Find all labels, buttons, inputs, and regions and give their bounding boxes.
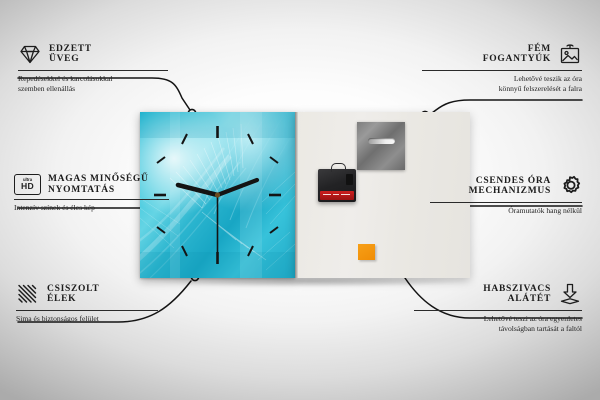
- feature-divider: [430, 202, 582, 203]
- feature-title-line2: FOGANTYÚK: [483, 54, 551, 64]
- feature-silent-mechanism: CSENDES ÓRA MECHANIZMUS Óramutatók hang …: [430, 174, 582, 216]
- feature-metal-handles: FÉM FOGANTYÚK Lehetővé teszik az óra kön…: [422, 42, 582, 94]
- feature-title-line2: NYOMTATÁS: [48, 185, 149, 195]
- feature-title-line2: ÜVEG: [49, 54, 92, 64]
- feature-desc-line1: Sima és biztonságos felület: [16, 314, 158, 324]
- feature-divider: [18, 70, 168, 71]
- mechanism-label: [320, 191, 354, 200]
- feature-divider: [14, 199, 169, 200]
- feature-divider: [422, 70, 582, 71]
- clock-mechanism: [318, 169, 356, 202]
- mechanism-hook: [331, 163, 346, 172]
- feature-desc-line1: Repedésekkel és karcolásokkal: [18, 74, 168, 84]
- feature-title-line1: FÉM: [483, 44, 551, 54]
- feature-title-line1: MAGAS MINŐSÉGŰ: [48, 174, 149, 184]
- feature-desc-line1: Lehetővé teszik az óra: [422, 74, 582, 84]
- feature-title-line1: HABSZIVACS: [483, 284, 551, 294]
- arrow-down-pad-icon: [558, 282, 582, 306]
- picture-frame-icon: [558, 42, 582, 66]
- clock-center-cap: [215, 192, 220, 197]
- feature-title-line1: CSISZOLT: [47, 284, 99, 294]
- hatch-lines-icon: [16, 282, 40, 306]
- feature-polished-edges: CSISZOLT ÉLEK Sima és biztonságos felüle…: [16, 282, 158, 324]
- feature-title-line2: MECHANIZMUS: [469, 186, 551, 196]
- product-photo: [140, 112, 470, 278]
- mechanism-dial: [346, 174, 353, 185]
- feature-desc-line1: Intenzív színek és éles kép: [14, 203, 169, 213]
- feature-title-line2: ÉLEK: [47, 294, 99, 304]
- ultra-hd-badge-icon: ultra HD: [14, 174, 41, 195]
- feature-title-line2: ALÁTÉT: [483, 294, 551, 304]
- feature-desc-line2: szemben ellenállás: [18, 84, 168, 94]
- feature-divider: [16, 310, 158, 311]
- feature-tempered-glass: EDZETT ÜVEG Repedésekkel és karcolásokka…: [18, 42, 168, 94]
- feature-title-line1: EDZETT: [49, 44, 92, 54]
- feature-hd-print: ultra HD MAGAS MINŐSÉGŰ NYOMTATÁS Intenz…: [14, 174, 169, 213]
- feature-desc-line2: könnyű felszerelését a falra: [422, 84, 582, 94]
- feature-title-line1: CSENDES ÓRA: [469, 176, 551, 186]
- feature-divider: [414, 310, 582, 311]
- gear-icon: [558, 174, 582, 198]
- feature-desc-line1: Lehetővé teszi az óra egyenletes: [414, 314, 582, 324]
- hanger-slot: [368, 138, 395, 144]
- panel-seam: [295, 112, 298, 278]
- clock-minute-hand: [218, 180, 258, 195]
- feature-foam-pad: HABSZIVACS ALÁTÉT Lehetővé teszi az óra …: [414, 282, 582, 334]
- diamond-icon: [18, 42, 42, 66]
- infographic-canvas: EDZETT ÜVEG Repedésekkel és karcolásokka…: [0, 0, 600, 400]
- metal-hanger: [357, 122, 405, 170]
- feature-desc-line2: távolságban tartását a faltól: [414, 324, 582, 334]
- foam-pad: [358, 244, 375, 260]
- clock-hour-hand: [178, 185, 218, 195]
- feature-desc-line1: Óramutatók hang nélkül: [430, 206, 582, 216]
- hd-badge-large-text: HD: [21, 182, 34, 191]
